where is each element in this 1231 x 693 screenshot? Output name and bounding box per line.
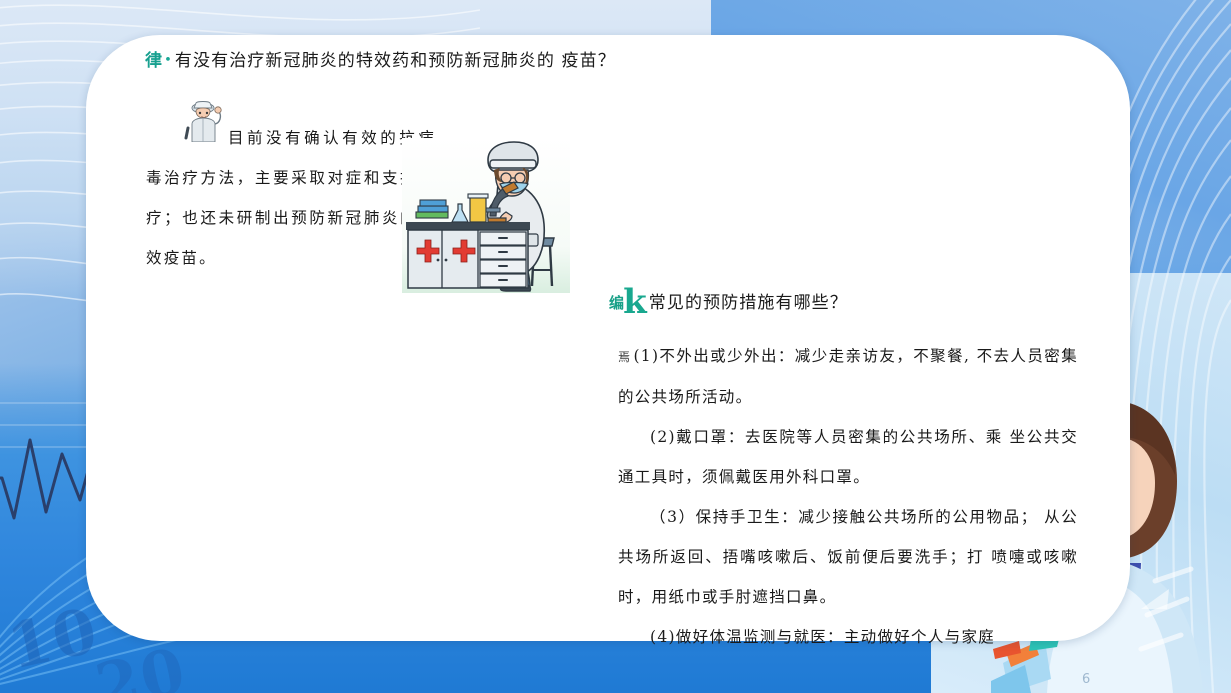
content-card: 律•有没有治疗新冠肺炎的特效药和预防新冠肺炎的 疫苗？ 目前没有确认有效的抗病毒…	[86, 35, 1130, 641]
question-one-answer: 目前没有确认有效的抗病毒治疗方法，主要采取对症和支持治疗；也还未研制出预防新冠肺…	[146, 118, 436, 278]
measure-glyph-icon: 焉	[618, 350, 631, 364]
measure-item-1: 焉(1)不外出或少外出：减少走亲访友，不聚餐, 不去人员密集的公共场所活动。	[618, 336, 1078, 417]
question-two-title: 编k常见的预防措施有哪些？	[609, 288, 848, 313]
question-one-marker: 律	[145, 51, 163, 71]
measure-item-2: (2)戴口罩：去医院等人员密集的公共场所、乘 坐公共交通工具时，须佩戴医用外科口…	[618, 417, 1078, 497]
scientist-microscope-illustration	[402, 138, 570, 293]
question-one-title: 律•有没有治疗新冠肺炎的特效药和预防新冠肺炎的 疫苗？	[145, 46, 616, 71]
question-one-dot: •	[164, 53, 173, 68]
question-two-marker-k: k	[623, 282, 648, 322]
measure-item-3-text: （3）保持手卫生：减少接触公共场所的公用物品； 从公共场所返回、捂嘴咳嗽后、饭前…	[618, 508, 1078, 606]
question-one-title-text: 有没有治疗新冠肺炎的特效药和预防新冠肺炎的 疫苗？	[175, 51, 616, 71]
slide-root: 10 20	[0, 0, 1231, 693]
page-number: 6	[1082, 672, 1090, 687]
question-two-measures: 焉(1)不外出或少外出：减少走亲访友，不聚餐, 不去人员密集的公共场所活动。 (…	[618, 336, 1078, 657]
measure-item-3: （3）保持手卫生：减少接触公共场所的公用物品； 从公共场所返回、捂嘴咳嗽后、饭前…	[618, 497, 1078, 617]
question-two-title-text: 常见的预防措施有哪些？	[649, 293, 848, 313]
measure-item-4-text: (4)做好体温监测与就医：主动做好个人与家庭	[650, 628, 995, 646]
measure-item-1-text: (1)不外出或少外出：减少走亲访友，不聚餐, 不去人员密集的公共场所活动。	[618, 347, 1078, 406]
measure-item-4: (4)做好体温监测与就医：主动做好个人与家庭	[618, 617, 1078, 657]
measure-item-2-text: (2)戴口罩：去医院等人员密集的公共场所、乘 坐公共交通工具时，须佩戴医用外科口…	[618, 428, 1078, 486]
